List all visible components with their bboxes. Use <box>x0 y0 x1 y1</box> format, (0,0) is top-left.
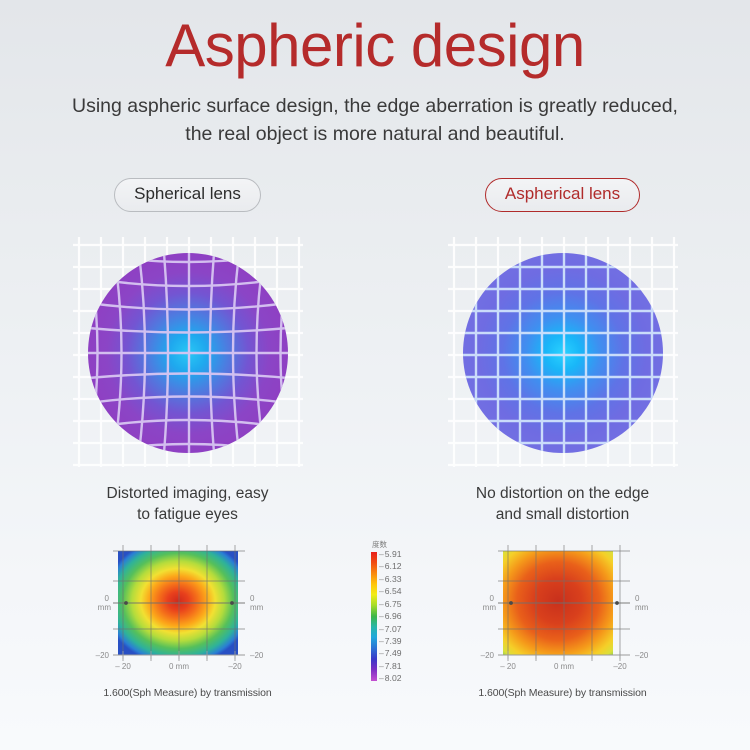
page-title: Aspheric design <box>0 0 750 76</box>
aspherical-lens-panel: No distortion on the edge and small dist… <box>375 237 750 525</box>
svg-text:0: 0 <box>635 594 640 603</box>
lens-type-label-row: Spherical lens Aspherical lens <box>0 178 750 212</box>
spherical-lens-graphic <box>73 237 303 467</box>
aspherical-heatmap-panel: 0 mm –20 0 mm –20 – 20 0 mm –20 1.600(Sp… <box>375 539 750 699</box>
svg-text:mm: mm <box>635 603 649 612</box>
colorbar-tick: –6.12 <box>379 562 402 571</box>
spherical-heatmap-caption: 1.600(Sph Measure) by transmission <box>103 687 271 699</box>
colorbar-tick-dash: – <box>379 673 384 683</box>
aspherical-lens-caption: No distortion on the edge and small dist… <box>476 484 649 525</box>
colorbar-tick-value: 6.33 <box>385 574 402 584</box>
colorbar-tick-value: 6.54 <box>385 586 402 596</box>
svg-text:–20: –20 <box>228 662 242 671</box>
spherical-heatmap-panel: 0 mm –20 0 mm –20 – 20 0 mm –20 1.600(Sp… <box>0 539 375 699</box>
colorbar-tick: –5.91 <box>379 550 402 559</box>
svg-text:– 20: – 20 <box>500 662 516 671</box>
aspherical-heatmap-figure: 0 mm –20 0 mm –20 – 20 0 mm –20 <box>470 539 655 681</box>
colorbar-tick-dash: – <box>379 611 384 621</box>
colorbar-tick-dash: – <box>379 549 384 559</box>
colorbar-tick-dash: – <box>379 561 384 571</box>
colorbar-tick-value: 6.75 <box>385 599 402 609</box>
colorbar-tick-dash: – <box>379 636 384 646</box>
svg-text:0 mm: 0 mm <box>554 662 574 671</box>
spherical-heatmap-graphic: 0 mm –20 0 mm –20 – 20 0 mm –20 <box>95 539 280 681</box>
spherical-heatmap-figure: 0 mm –20 0 mm –20 – 20 0 mm –20 <box>95 539 280 681</box>
colorbar-tick: –7.39 <box>379 637 402 646</box>
colorbar-tick: –7.49 <box>379 649 402 658</box>
colorbar-legend: 度数 –5.91 –6.12 –6.33 –6.54 –6.75 –6.96 –… <box>365 539 431 683</box>
svg-text:mm: mm <box>250 603 264 612</box>
colorbar-tick-value: 8.02 <box>385 673 402 683</box>
colorbar-gradient-strip <box>371 552 377 681</box>
svg-text:0: 0 <box>490 594 495 603</box>
colorbar-tick-dash: – <box>379 586 384 596</box>
colorbar-tick-value: 5.91 <box>385 549 402 559</box>
colorbar-tick: –7.07 <box>379 625 402 634</box>
colorbar-tick: –6.75 <box>379 600 402 609</box>
colorbar-tick-value: 7.39 <box>385 636 402 646</box>
colorbar-tick-value: 7.49 <box>385 648 402 658</box>
colorbar-tick-value: 6.12 <box>385 561 402 571</box>
colorbar-tick: –6.96 <box>379 612 402 621</box>
colorbar-tick-dash: – <box>379 599 384 609</box>
colorbar-tick-value: 6.96 <box>385 611 402 621</box>
svg-text:–20: –20 <box>96 651 110 660</box>
heatmap-row: 0 mm –20 0 mm –20 – 20 0 mm –20 1.600(Sp… <box>0 539 750 699</box>
colorbar-tick: –8.02 <box>379 674 402 683</box>
colorbar-tick-dash: – <box>379 661 384 671</box>
svg-text:0: 0 <box>250 594 255 603</box>
lens-comparison-row: Distorted imaging, easy to fatigue eyes <box>0 237 750 525</box>
spherical-caption-line1: Distorted imaging, easy <box>107 484 269 504</box>
colorbar-body: –5.91 –6.12 –6.33 –6.54 –6.75 –6.96 –7.0… <box>365 552 402 683</box>
spherical-lens-caption: Distorted imaging, easy to fatigue eyes <box>107 484 269 525</box>
aspherical-caption-line2: and small distortion <box>476 505 649 525</box>
colorbar-tick-value: 7.07 <box>385 624 402 634</box>
spherical-caption-line2: to fatigue eyes <box>107 505 269 525</box>
svg-text:–20: –20 <box>613 662 627 671</box>
page-subtitle: Using aspheric surface design, the edge … <box>0 93 750 148</box>
spherical-pill-cell: Spherical lens <box>0 178 375 212</box>
colorbar-tick: –6.33 <box>379 575 402 584</box>
distorted-grid <box>88 253 289 453</box>
svg-text:–20: –20 <box>250 651 264 660</box>
spherical-lens-panel: Distorted imaging, easy to fatigue eyes <box>0 237 375 525</box>
colorbar-tick: –6.54 <box>379 587 402 596</box>
colorbar-tick-list: –5.91 –6.12 –6.33 –6.54 –6.75 –6.96 –7.0… <box>379 550 402 683</box>
colorbar-tick-dash: – <box>379 624 384 634</box>
svg-text:0: 0 <box>105 594 110 603</box>
colorbar-tick-dash: – <box>379 574 384 584</box>
aspherical-pill-cell: Aspherical lens <box>375 178 750 212</box>
svg-text:–20: –20 <box>635 651 649 660</box>
aspherical-caption-line1: No distortion on the edge <box>476 484 649 504</box>
colorbar-tick-dash: – <box>379 648 384 658</box>
spherical-lens-badge: Spherical lens <box>114 178 261 212</box>
spherical-lens-figure <box>73 237 303 467</box>
svg-text:– 20: – 20 <box>115 662 131 671</box>
aspherical-lens-badge: Aspherical lens <box>485 178 640 212</box>
aspherical-lens-figure <box>448 237 678 467</box>
colorbar-tick: –7.81 <box>379 662 402 671</box>
colorbar-tick-value: 7.81 <box>385 661 402 671</box>
svg-text:0 mm: 0 mm <box>169 662 189 671</box>
aspherical-heatmap-caption: 1.600(Sph Measure) by transmission <box>478 687 646 699</box>
svg-text:mm: mm <box>483 603 497 612</box>
aspherical-heatmap-graphic: 0 mm –20 0 mm –20 – 20 0 mm –20 <box>470 539 655 681</box>
svg-text:–20: –20 <box>481 651 495 660</box>
aspherical-lens-graphic <box>448 237 678 467</box>
svg-text:mm: mm <box>98 603 112 612</box>
